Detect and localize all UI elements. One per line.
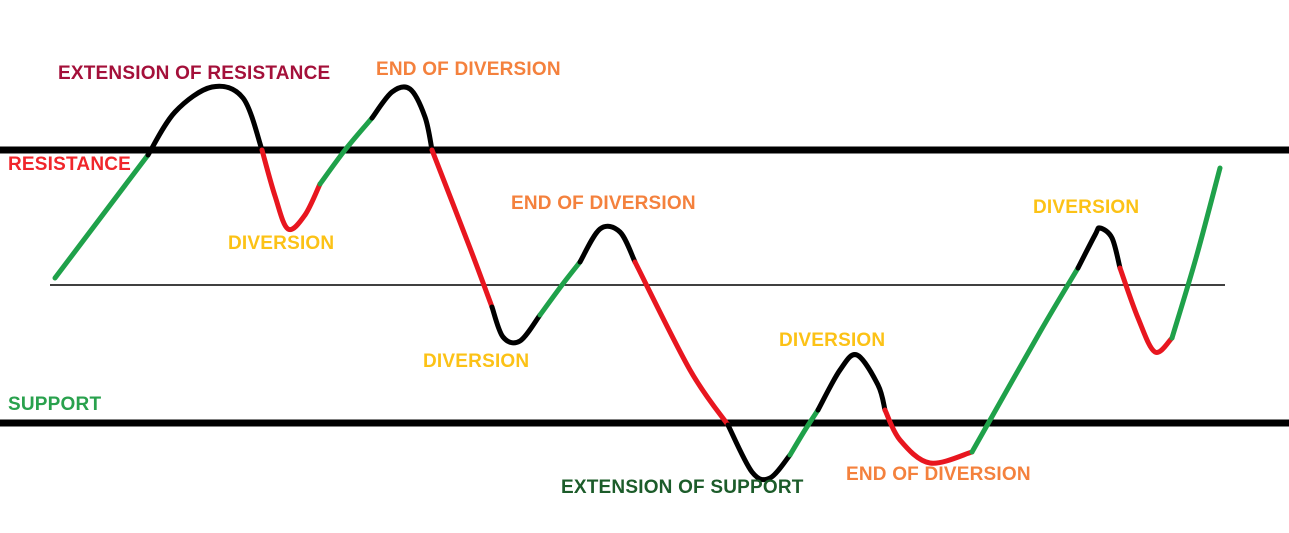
annotation-end-of-diversion-3: END OF DIVERSION [846, 465, 1031, 484]
price-segment-neutral-15 [1078, 228, 1120, 268]
price-segment-uptrend-17 [1172, 168, 1220, 338]
price-segment-neutral-6 [492, 307, 540, 343]
price-segment-neutral-4 [372, 87, 432, 150]
price-segment-uptrend-7 [540, 262, 580, 315]
annotation-end-of-diversion-1: END OF DIVERSION [376, 60, 561, 79]
price-segment-downtrend-16 [1120, 268, 1172, 352]
chart-canvas: EXTENSION OF RESISTANCEEND OF DIVERSIONR… [0, 0, 1289, 533]
price-segment-downtrend-9 [635, 262, 728, 425]
annotation-extension-of-resistance: EXTENSION OF RESISTANCE [58, 64, 330, 83]
annotation-diversion-3: DIVERSION [779, 331, 885, 350]
price-segment-uptrend-11 [790, 410, 818, 455]
annotation-support-label: SUPPORT [8, 395, 101, 414]
annotation-diversion-1: DIVERSION [228, 234, 334, 253]
price-segment-neutral-10 [728, 425, 790, 480]
annotation-extension-of-support: EXTENSION OF SUPPORT [561, 478, 804, 497]
price-segment-downtrend-13 [885, 410, 972, 463]
price-segment-downtrend-2 [262, 150, 320, 230]
annotation-end-of-diversion-2: END OF DIVERSION [511, 194, 696, 213]
annotation-diversion-2: DIVERSION [423, 352, 529, 371]
annotation-diversion-4: DIVERSION [1033, 198, 1139, 217]
price-segment-downtrend-5 [432, 150, 492, 307]
price-segment-neutral-8 [580, 226, 635, 262]
annotation-resistance-label: RESISTANCE [8, 155, 131, 174]
price-segment-neutral-1 [148, 86, 262, 155]
price-segment-neutral-12 [818, 355, 885, 410]
